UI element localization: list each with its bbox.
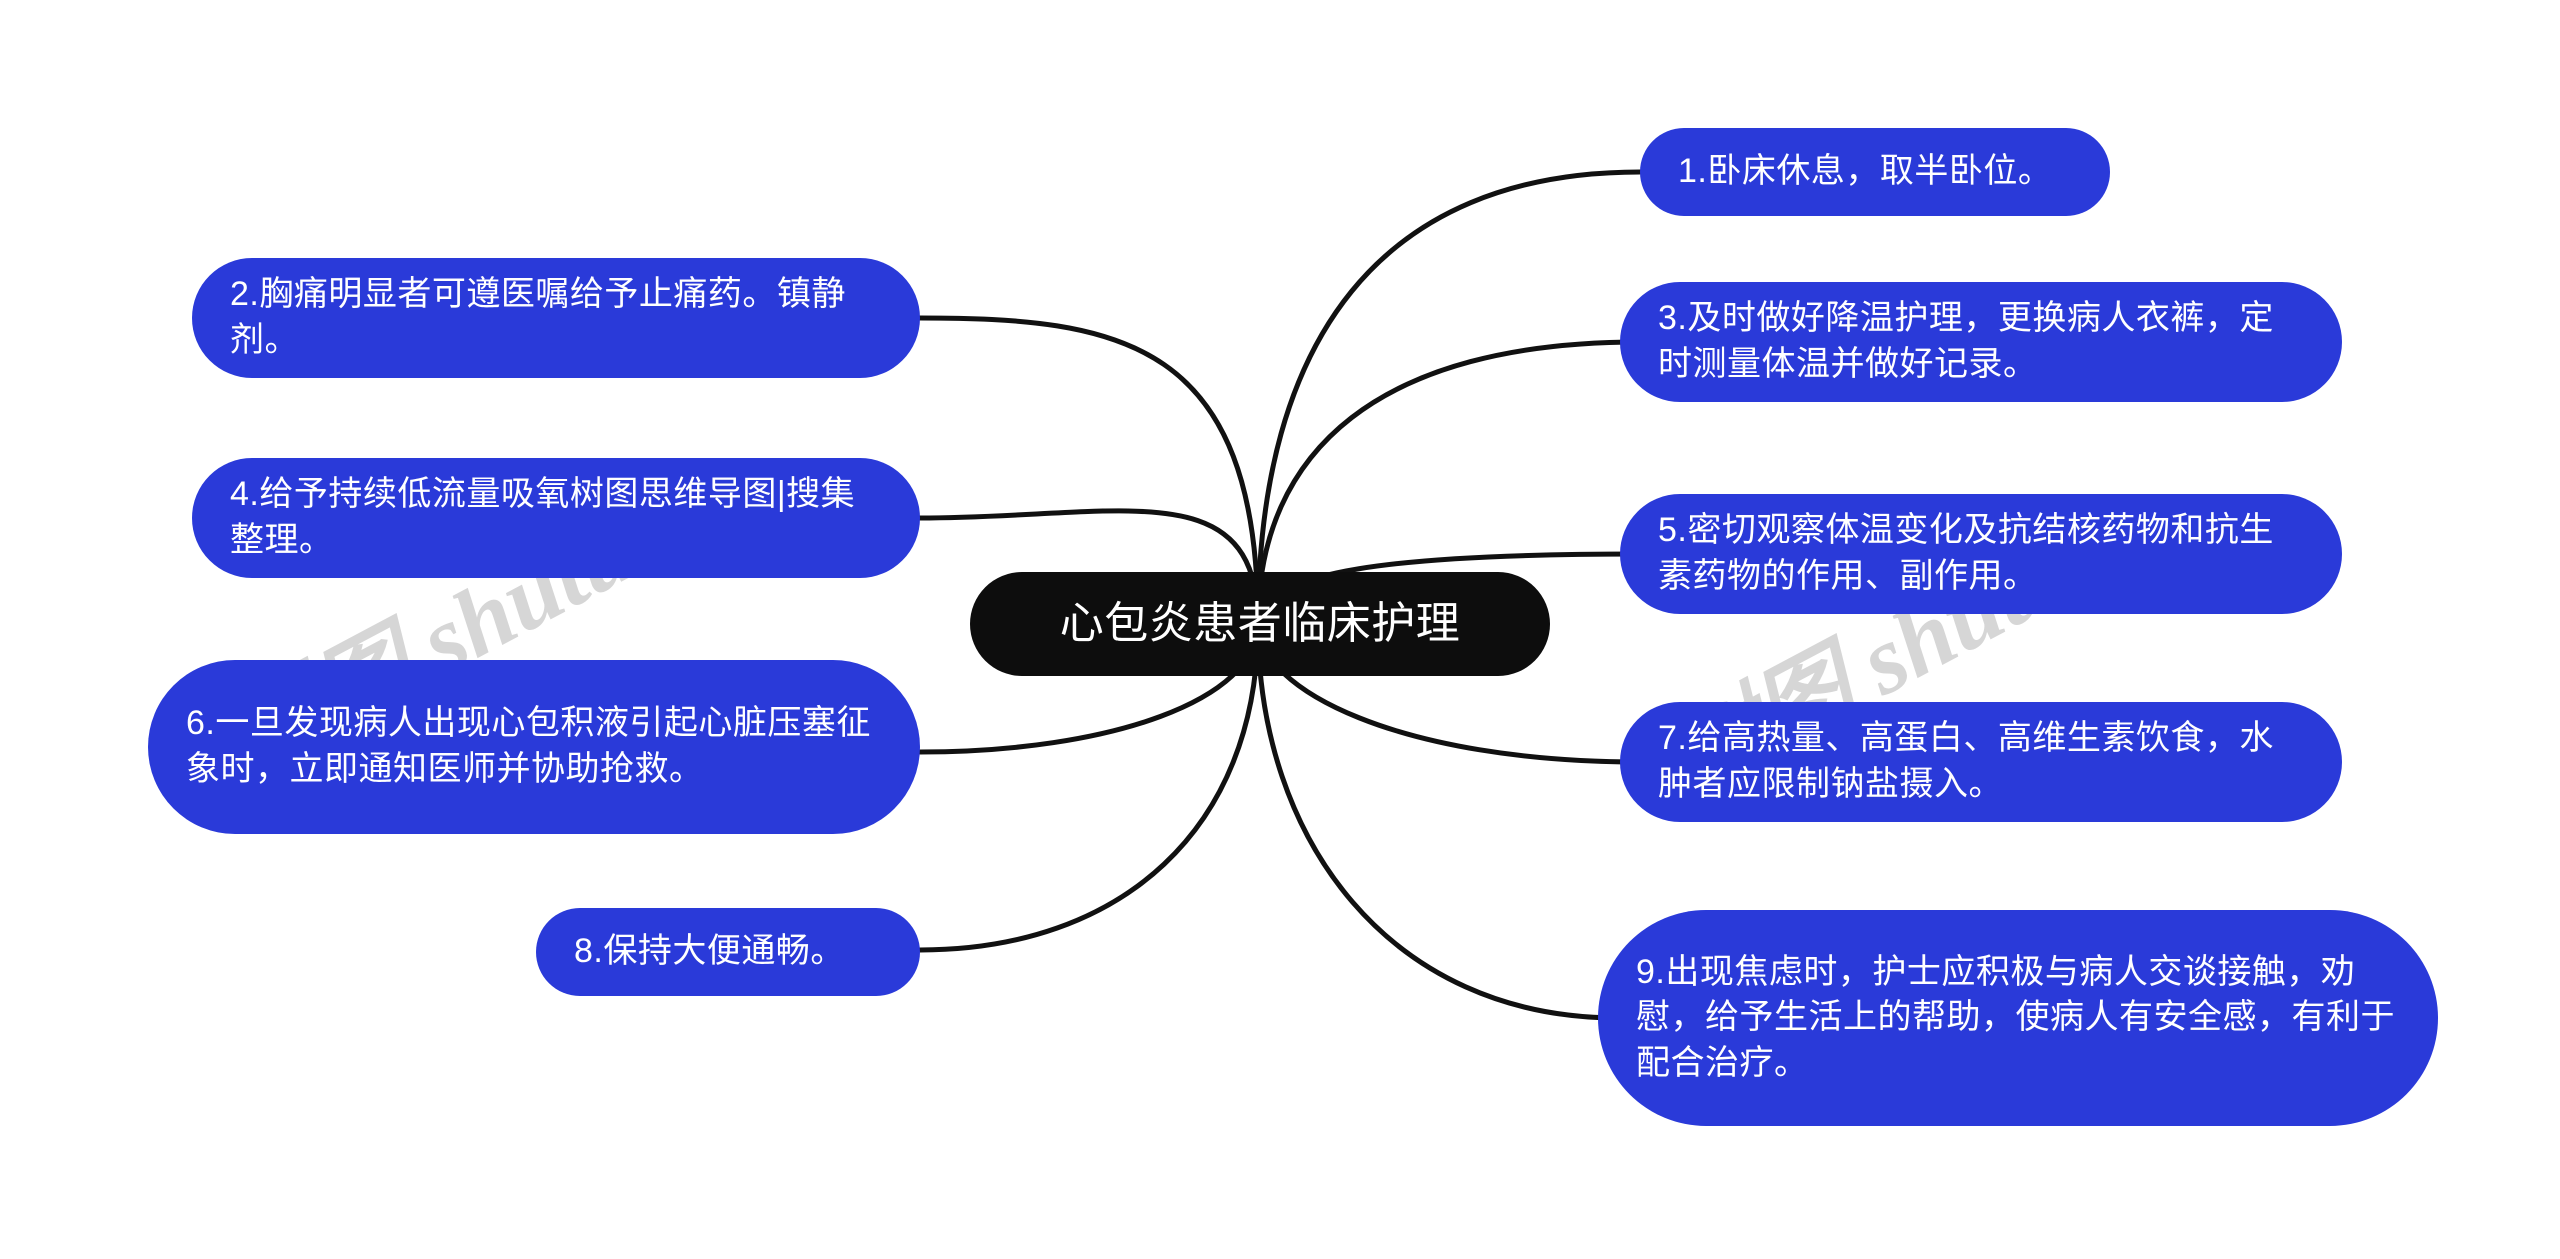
root-node-label: 心包炎患者临床护理 (1004, 595, 1516, 654)
branch-node-7[interactable]: 7.给高热量、高蛋白、高维生素饮食，水肿者应限制钠盐摄入。 (1620, 702, 2342, 822)
branch-node-6[interactable]: 6.一旦发现病人出现心包积液引起心脏压塞征象时，立即通知医师并协助抢救。 (148, 660, 920, 834)
branch-node-2-label: 2.胸痛明显者可遵医嘱给予止痛药。镇静剂。 (230, 272, 882, 363)
branch-node-3[interactable]: 3.及时做好降温护理，更换病人衣裤，定时测量体温并做好记录。 (1620, 282, 2342, 402)
branch-node-4-label: 4.给予持续低流量吸氧树图思维导图|搜集整理。 (230, 472, 882, 563)
edge-to-node-9 (1258, 624, 1618, 1018)
branch-node-3-label: 3.及时做好降温护理，更换病人衣裤，定时测量体温并做好记录。 (1658, 296, 2304, 387)
branch-node-1-label: 1.卧床休息，取半卧位。 (1678, 149, 2072, 195)
branch-node-8-label: 8.保持大便通畅。 (574, 929, 882, 975)
branch-node-8[interactable]: 8.保持大便通畅。 (536, 908, 920, 996)
branch-node-6-label: 6.一旦发现病人出现心包积液引起心脏压塞征象时，立即通知医师并协助抢救。 (186, 701, 882, 792)
branch-node-5[interactable]: 5.密切观察体温变化及抗结核药物和抗生素药物的作用、副作用。 (1620, 494, 2342, 614)
branch-node-5-label: 5.密切观察体温变化及抗结核药物和抗生素药物的作用、副作用。 (1658, 508, 2304, 599)
branch-node-9[interactable]: 9.出现焦虑时，护士应积极与病人交谈接触，劝慰，给予生活上的帮助，使病人有安全感… (1598, 910, 2438, 1126)
root-node[interactable]: 心包炎患者临床护理 (970, 572, 1550, 676)
branch-node-1[interactable]: 1.卧床休息，取半卧位。 (1640, 128, 2110, 216)
branch-node-4[interactable]: 4.给予持续低流量吸氧树图思维导图|搜集整理。 (192, 458, 920, 578)
branch-node-9-label: 9.出现焦虑时，护士应积极与病人交谈接触，劝慰，给予生活上的帮助，使病人有安全感… (1636, 950, 2400, 1087)
mindmap-canvas: 树图 shutu.cn 树图 shutu.cn 心包炎患者临床护理 1.卧床休息… (0, 0, 2560, 1259)
branch-node-2[interactable]: 2.胸痛明显者可遵医嘱给予止痛药。镇静剂。 (192, 258, 920, 378)
branch-node-7-label: 7.给高热量、高蛋白、高维生素饮食，水肿者应限制钠盐摄入。 (1658, 716, 2304, 807)
